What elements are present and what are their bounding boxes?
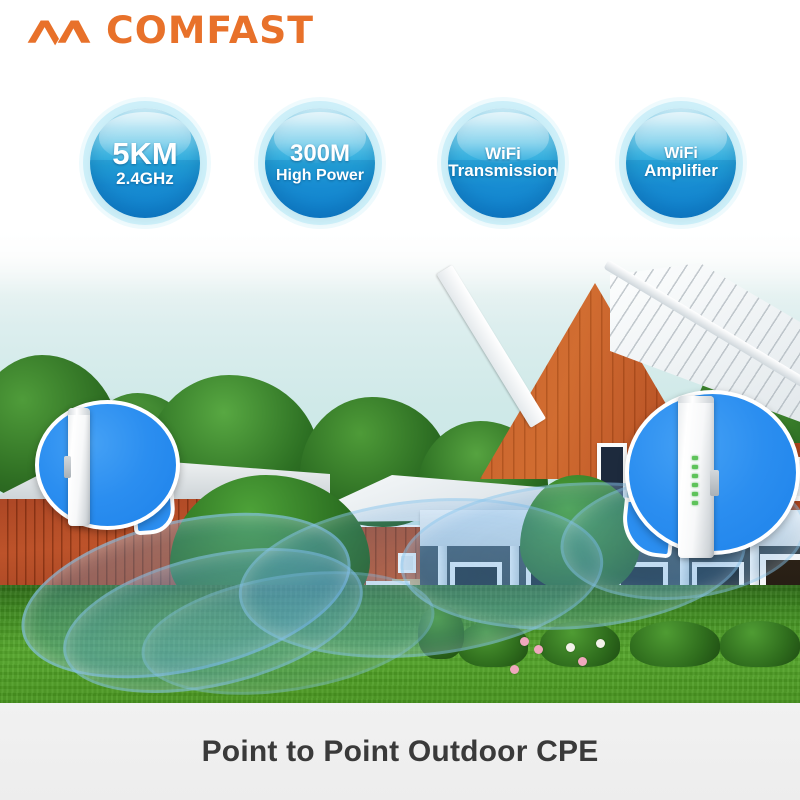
- shrub: [630, 621, 720, 667]
- cpe-led: [692, 465, 698, 469]
- outdoor-cpe-device-left: [68, 408, 90, 526]
- cpe-port: [710, 470, 719, 496]
- badge-primary-text: WiFi: [485, 145, 521, 162]
- footer-caption-bar: Point to Point Outdoor CPE: [0, 703, 800, 800]
- callout-bubble-left[interactable]: [35, 400, 180, 530]
- badge-secondary-text: High Power: [276, 167, 364, 184]
- cpe-port: [64, 456, 71, 478]
- cpe-led: [692, 456, 698, 460]
- cpe-led-indicators: [690, 456, 700, 505]
- feature-badge-range[interactable]: 5KM 2.4GHz: [90, 108, 200, 218]
- flower: [534, 645, 543, 654]
- badge-primary-text: 300M: [290, 142, 350, 166]
- brand-wordmark: COMFAST: [106, 14, 314, 48]
- shrub: [720, 621, 800, 667]
- feature-badge-transmission[interactable]: WiFi Transmission: [448, 108, 558, 218]
- shrub: [418, 605, 464, 659]
- cpe-led: [692, 501, 698, 505]
- flower: [596, 639, 605, 648]
- product-banner: COMFAST: [0, 0, 800, 800]
- cpe-top-cap: [68, 408, 90, 415]
- flower: [520, 637, 529, 646]
- feature-badge-speed[interactable]: 300M High Power: [265, 108, 375, 218]
- header-bar: COMFAST: [0, 0, 800, 78]
- badge-secondary-text: 2.4GHz: [116, 170, 174, 188]
- flower: [510, 665, 519, 674]
- cpe-led: [692, 483, 698, 487]
- roof-edge-left: [437, 265, 546, 428]
- badge-secondary-text: Amplifier: [644, 162, 718, 180]
- outdoor-cpe-device-right: [678, 396, 714, 558]
- cpe-led: [692, 492, 698, 496]
- shrub: [458, 621, 528, 667]
- cpe-top-cap: [678, 396, 714, 403]
- product-caption: Point to Point Outdoor CPE: [202, 735, 599, 769]
- badge-secondary-text: Transmission: [448, 162, 558, 180]
- cpe-led: [692, 474, 698, 478]
- comfast-chevron-mountain-logo-icon: [26, 14, 92, 48]
- feature-badge-amplifier[interactable]: WiFi Amplifier: [626, 108, 736, 218]
- brand-logo[interactable]: COMFAST: [26, 14, 310, 48]
- feature-badge-row: 5KM 2.4GHz 300M High Power WiFi Transmis…: [0, 108, 800, 228]
- flower: [578, 657, 587, 666]
- flower: [566, 643, 575, 652]
- badge-primary-text: WiFi: [664, 146, 698, 162]
- badge-primary-text: 5KM: [112, 138, 177, 170]
- barn-window: [398, 553, 416, 573]
